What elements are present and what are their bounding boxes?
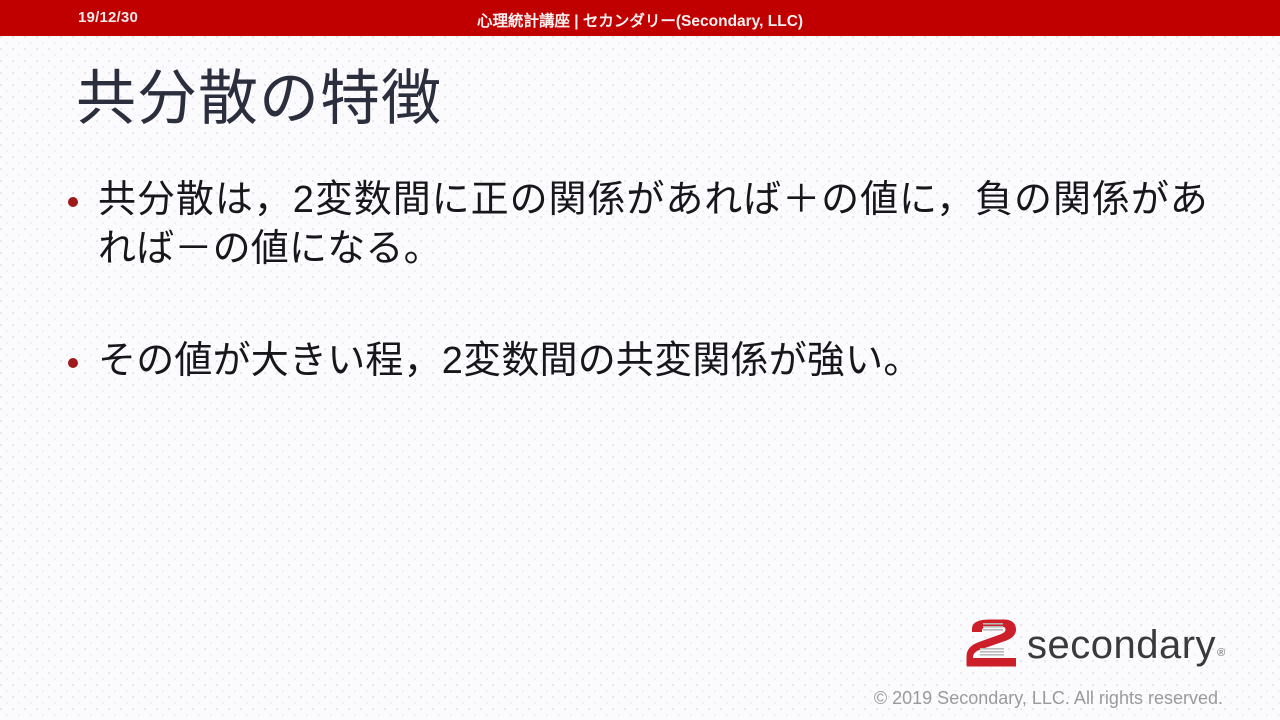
bullet-item: 共分散は，2変数間に正の関係があれば＋の値に，負の関係があれば－の値になる。: [68, 176, 1208, 273]
slide-canvas: 19/12/30 心理統計講座 | セカンダリー(Secondary, LLC)…: [0, 0, 1280, 720]
bullet-item: その値が大きい程，2変数間の共変関係が強い。: [68, 337, 1208, 386]
logo-wordmark: secondary: [1027, 625, 1216, 665]
registered-trademark-icon: ®: [1217, 647, 1225, 659]
header-bar: 19/12/30 心理統計講座 | セカンダリー(Secondary, LLC): [0, 0, 1280, 36]
copyright-notice: © 2019 Secondary, LLC. All rights reserv…: [874, 688, 1223, 709]
header-course-title: 心理統計講座 | セカンダリー(Secondary, LLC): [0, 9, 1280, 31]
secondary-logo: secondary ®: [966, 618, 1224, 668]
bullet-text: 共分散は，2変数間に正の関係があれば＋の値に，負の関係があれば－の値になる。: [98, 176, 1208, 273]
bullet-dot-icon: [68, 358, 78, 368]
slide-body: 共分散は，2変数間に正の関係があれば＋の値に，負の関係があれば－の値になる。 そ…: [68, 176, 1208, 386]
bullet-text: その値が大きい程，2変数間の共変関係が強い。: [98, 337, 1208, 386]
bullet-dot-icon: [68, 197, 78, 207]
slide-title: 共分散の特徴: [76, 63, 442, 135]
secondary-book-mark-icon: [966, 618, 1018, 668]
bullet-spacer: [68, 273, 1208, 337]
